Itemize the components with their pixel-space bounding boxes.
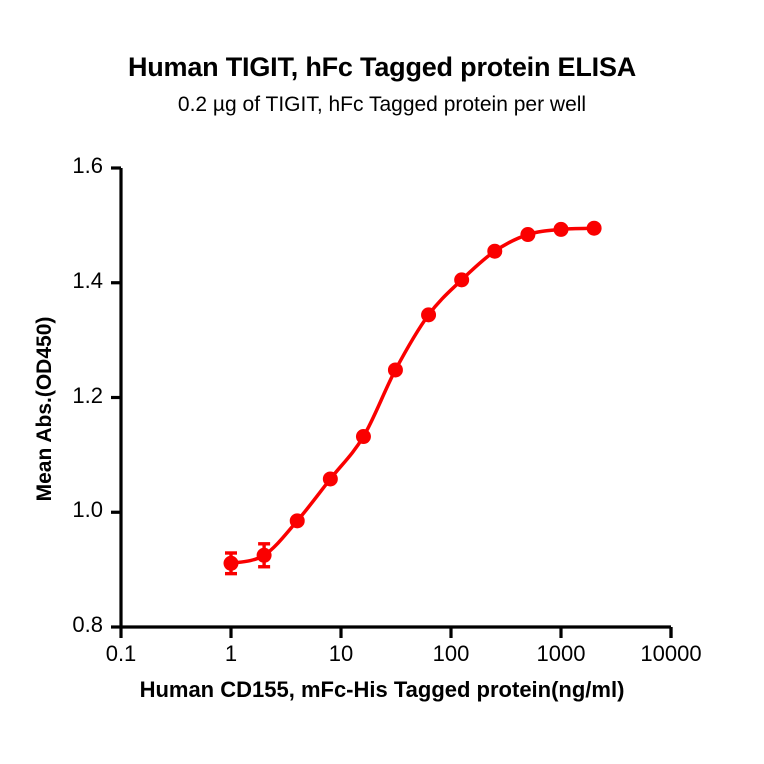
data-point: [290, 513, 305, 528]
data-point: [323, 471, 338, 486]
fitted-curve-line: [231, 228, 594, 563]
data-point: [520, 227, 535, 242]
binding-curve-path: [231, 228, 594, 563]
axis-tick-marks: [111, 168, 671, 638]
x-tick-label: 0.1: [61, 641, 181, 667]
x-axis-title: Human CD155, mFc-His Tagged protein(ng/m…: [0, 677, 764, 703]
x-tick-label: 10000: [611, 641, 731, 667]
axis-frame: [121, 168, 671, 627]
data-point: [454, 272, 469, 287]
y-axis-title: Mean Abs.(OD450): [33, 279, 57, 539]
x-tick-label: 10: [281, 641, 401, 667]
data-point-markers: [224, 221, 602, 571]
data-point: [554, 222, 569, 237]
data-point: [356, 429, 371, 444]
data-point: [587, 221, 602, 236]
data-point: [224, 556, 239, 571]
chart-page: Human TIGIT, hFc Tagged protein ELISA 0.…: [0, 0, 764, 764]
x-tick-label: 100: [391, 641, 511, 667]
y-tick-label: 0.8: [33, 612, 103, 638]
data-point: [257, 548, 272, 563]
data-point: [487, 244, 502, 259]
plot-area: 0.81.01.21.41.6 0.1110100100010000 Mean …: [0, 0, 764, 764]
data-point: [388, 362, 403, 377]
data-point: [421, 307, 436, 322]
x-tick-label: 1: [171, 641, 291, 667]
x-tick-label: 1000: [501, 641, 621, 667]
y-tick-label: 1.6: [33, 153, 103, 179]
